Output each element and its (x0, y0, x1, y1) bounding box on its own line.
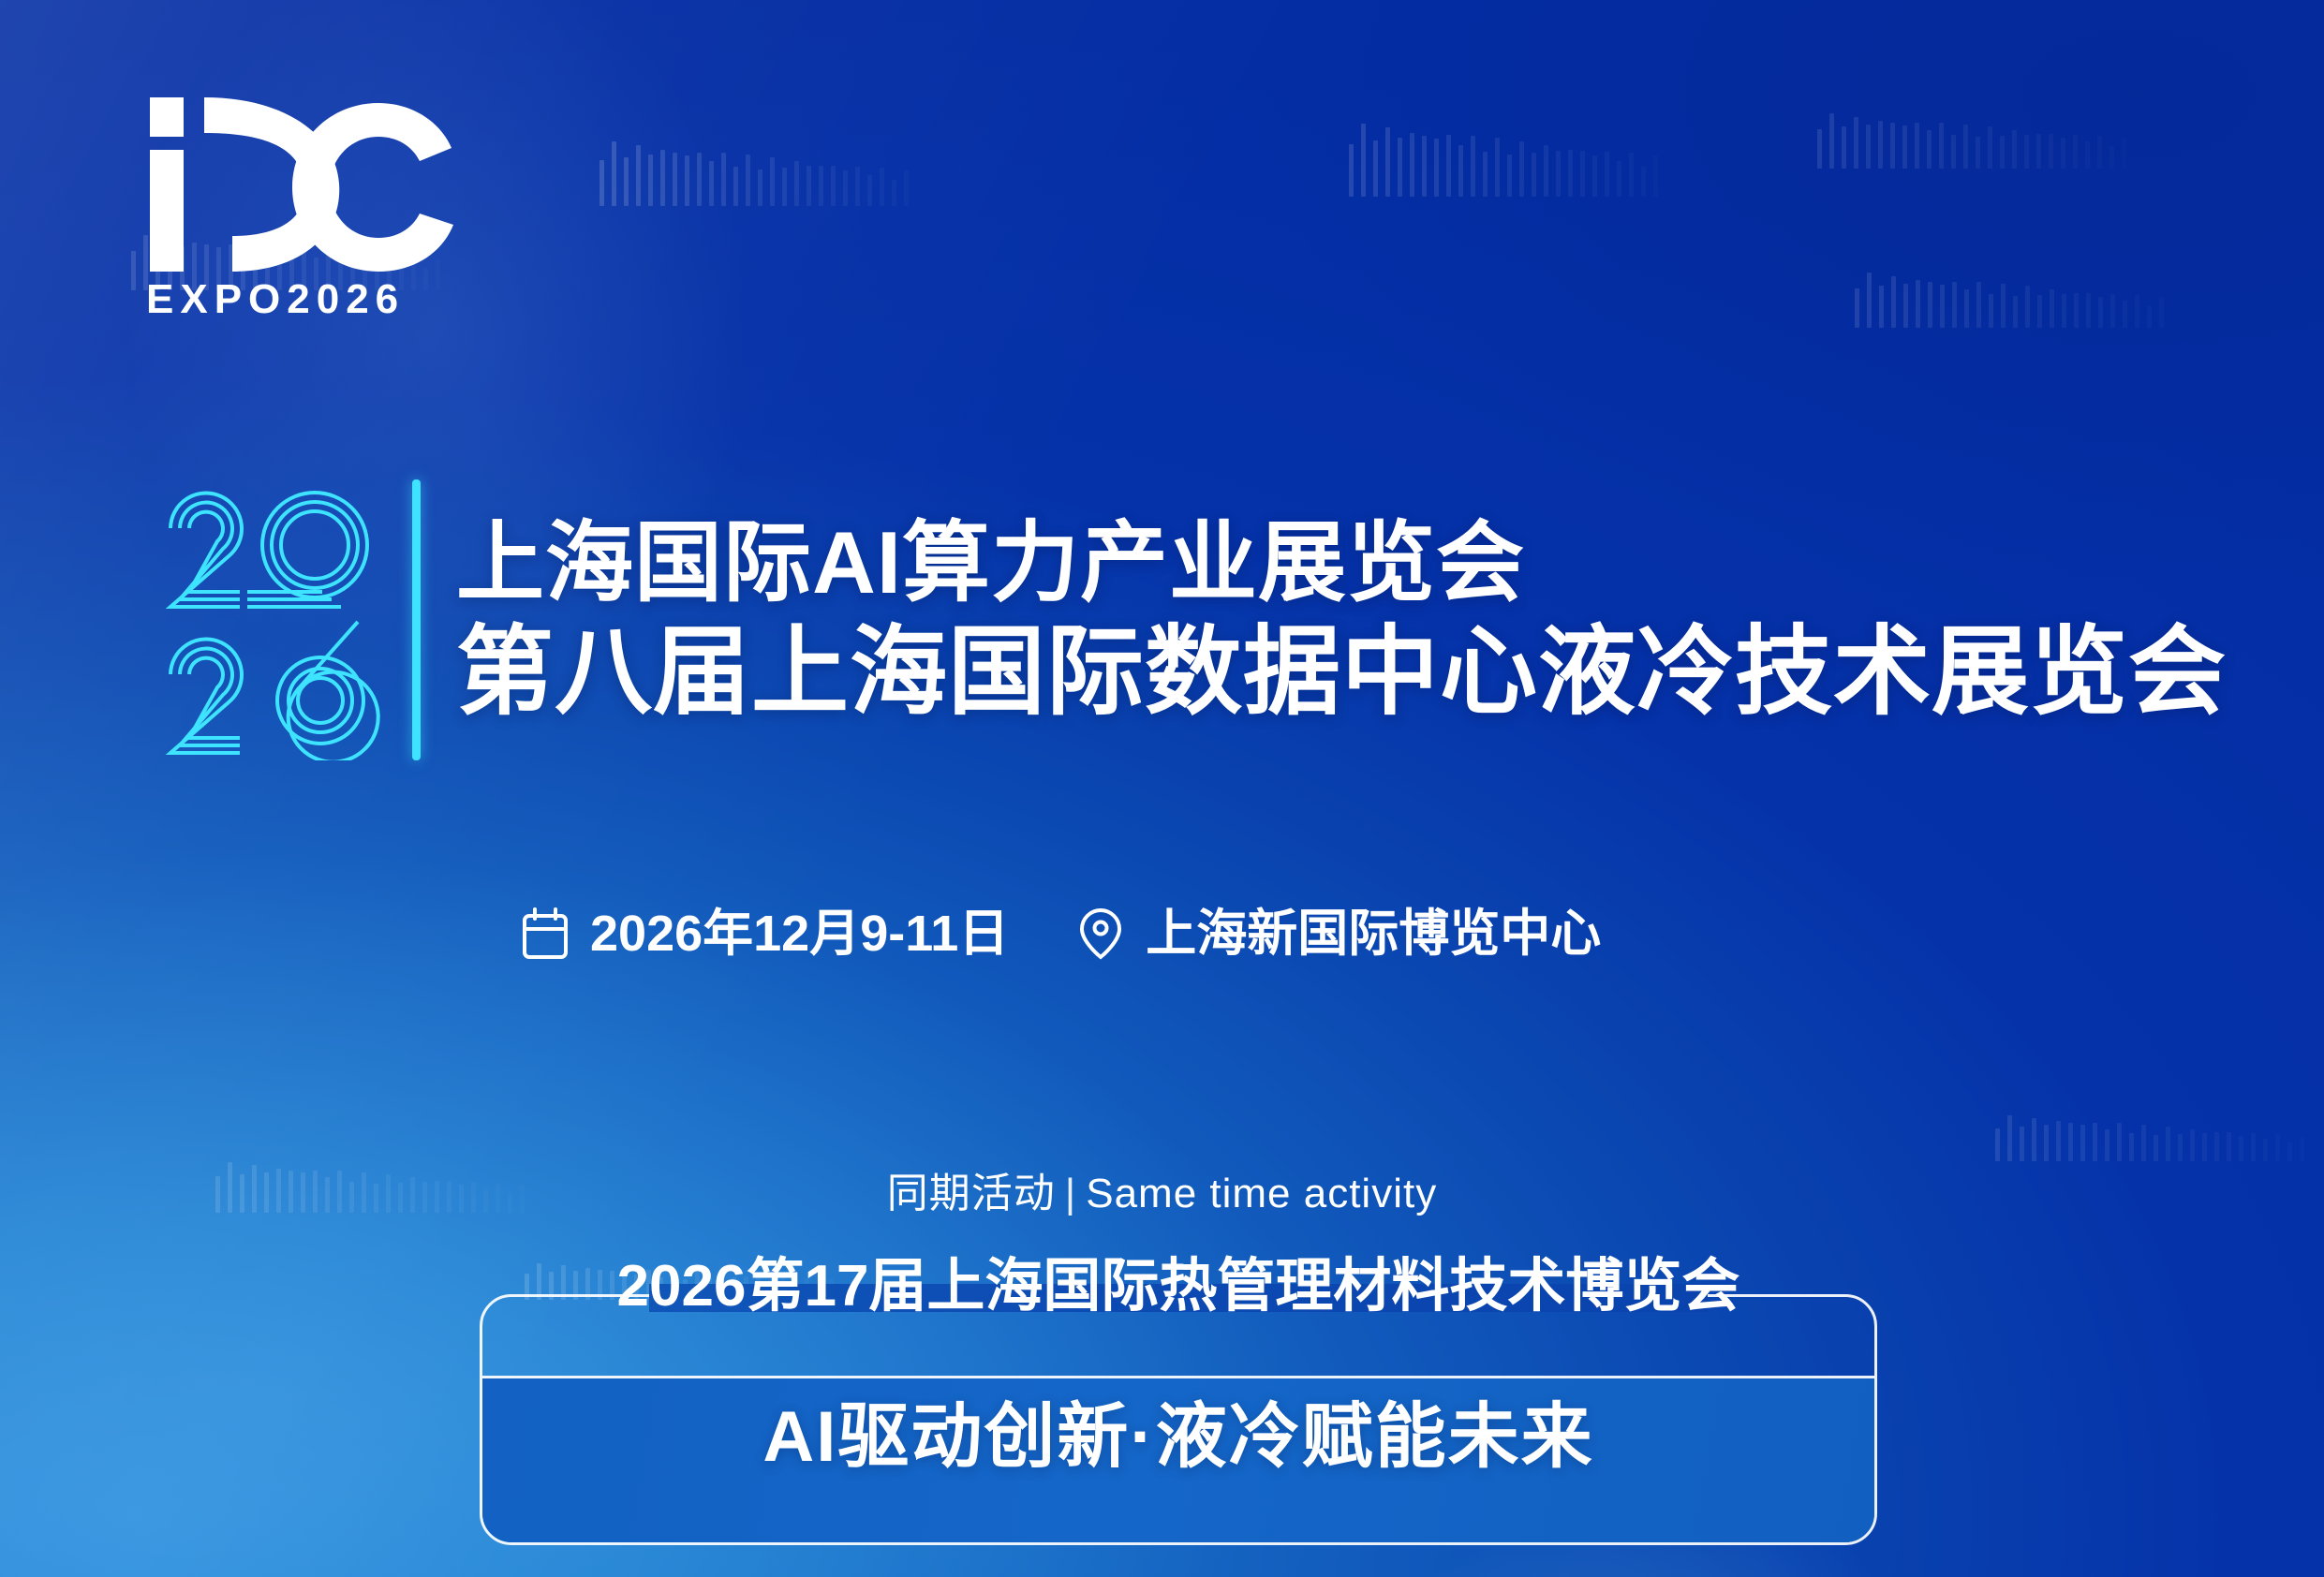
location-pin-icon (1076, 906, 1125, 961)
tick-bars-mid-right (1855, 272, 2164, 328)
sub-event-title: 2026第17届上海国际热管理材料技术博览会 (482, 1258, 1874, 1316)
logo-wordmark: EXPO2026 (142, 279, 480, 320)
headline-block: 上海国际AI算力产业展览会 第八届上海国际数据中心液冷技术展览会 (157, 479, 2227, 760)
headline-accent-rule (412, 479, 421, 760)
event-meta-row: 2026年12月9-11日 上海新国际博览中心 (521, 906, 1601, 961)
idc-logo: EXPO2026 (142, 86, 480, 320)
same-time-separator: | (1065, 1171, 1076, 1217)
calendar-icon (521, 906, 570, 961)
year-digit-2-bottom (170, 640, 242, 753)
event-venue: 上海新国际博览中心 (1076, 906, 1601, 961)
event-date: 2026年12月9-11日 (521, 906, 1009, 961)
event-venue-text: 上海新国际博览中心 (1146, 908, 1601, 959)
tick-bars-top-right (1817, 112, 2126, 169)
year-digit-6-bottom (277, 622, 378, 760)
same-time-en: Same time activity (1086, 1171, 1437, 1216)
year-digit-0-top (262, 493, 367, 597)
year-mark-2026 (157, 479, 392, 760)
same-time-cn: 同期活动 (887, 1171, 1056, 1216)
event-date-text: 2026年12月9-11日 (590, 908, 1009, 959)
headline-titles: 上海国际AI算力产业展览会 第八届上海国际数据中心液冷技术展览会 (456, 479, 2227, 760)
poster-canvas: EXPO2026 (0, 0, 2324, 1577)
tick-bars-right-low (1995, 1114, 2304, 1161)
exhibition-title-line1: 上海国际AI算力产业展览会 (456, 519, 2227, 607)
year-digit-2-top (170, 494, 242, 607)
exhibition-title-line2: 第八届上海国际数据中心液冷技术展览会 (456, 624, 2227, 721)
idc-logo-mark (142, 86, 461, 273)
sub-event-slogan: AI驱动创新·液冷赋能未来 (482, 1402, 1874, 1473)
tick-bars-top-left (600, 140, 909, 206)
same-time-activity-label: 同期活动|Same time activity (0, 1159, 2324, 1219)
sub-event-frame: 2026第17届上海国际热管理材料技术博览会 AI驱动创新·液冷赋能未来 (480, 1294, 1877, 1545)
tick-bars-top-mid (1349, 122, 1658, 197)
